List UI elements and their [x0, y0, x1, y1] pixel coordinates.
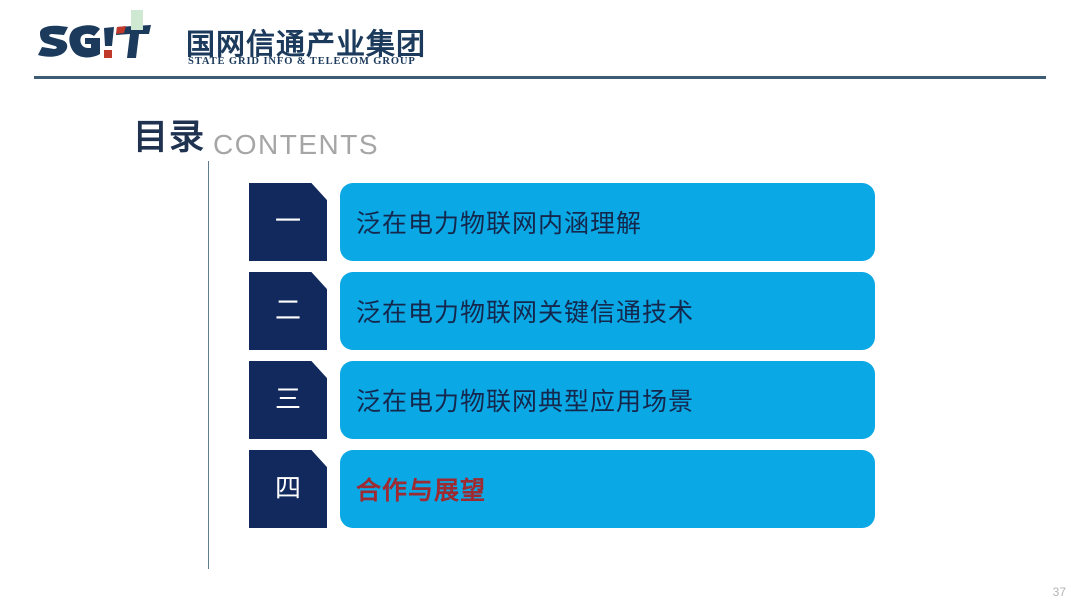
logo-green-accent: [131, 10, 143, 30]
item-number-badge: 三: [249, 361, 327, 439]
item-bar[interactable]: 合作与展望: [340, 450, 875, 528]
item-label: 泛在电力物联网关键信通技术: [356, 293, 694, 329]
item-number: 三: [275, 387, 301, 413]
item-number-badge: 二: [249, 272, 327, 350]
page-title: 目录 CONTENTS: [133, 121, 379, 156]
item-label: 合作与展望: [356, 471, 486, 507]
item-number-badge: 一: [249, 183, 327, 261]
slide-canvas: 国网信通产业集团 STATE GRID INFO & TELECOM GROUP…: [0, 0, 1080, 608]
item-bar[interactable]: 泛在电力物联网典型应用场景: [340, 361, 875, 439]
item-bar[interactable]: 泛在电力物联网内涵理解: [340, 183, 875, 261]
page-title-cn: 目录: [133, 121, 205, 156]
item-label: 泛在电力物联网内涵理解: [356, 204, 642, 240]
header-divider: [34, 76, 1046, 79]
item-number-badge: 四: [249, 450, 327, 528]
item-label: 泛在电力物联网典型应用场景: [356, 382, 694, 418]
item-number: 一: [275, 209, 301, 235]
page-title-en: CONTENTS: [213, 131, 379, 159]
vertical-accent-line: [208, 161, 209, 569]
item-number: 四: [275, 476, 301, 502]
page-number: 37: [1053, 585, 1066, 599]
item-bar[interactable]: 泛在电力物联网关键信通技术: [340, 272, 875, 350]
company-name-en: STATE GRID INFO & TELECOM GROUP: [188, 56, 416, 67]
brand-logo: 国网信通产业集团 STATE GRID INFO & TELECOM GROUP: [38, 10, 418, 68]
item-number: 二: [275, 298, 301, 324]
